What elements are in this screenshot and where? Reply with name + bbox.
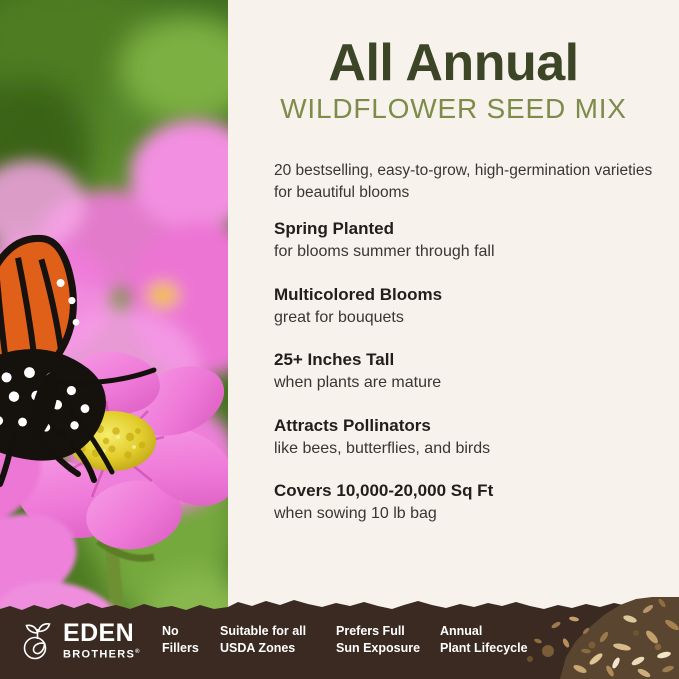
footer-feature-items: No Fillers Suitable for all USDA Zones P… xyxy=(162,623,562,669)
footer-content: EDEN BROTHERS® No Fillers Suitable for a… xyxy=(0,597,679,679)
registered-mark: ® xyxy=(135,649,141,655)
feature-description: like bees, butterflies, and birds xyxy=(274,438,674,459)
footer-bar: EDEN BROTHERS® No Fillers Suitable for a… xyxy=(0,597,679,679)
sprout-seed-icon xyxy=(20,622,56,660)
product-photo xyxy=(0,0,228,679)
product-tagline: 20 bestselling, easy-to-grow, high-germi… xyxy=(274,160,664,204)
feature-item: Covers 10,000-20,000 Sq Ft when sowing 1… xyxy=(274,480,674,525)
feature-list: Spring Planted for blooms summer through… xyxy=(274,218,674,525)
headline-block: All Annual WILDFLOWER SEED MIX xyxy=(228,36,679,125)
page-title: All Annual xyxy=(228,36,679,90)
brand-subname: BROTHERS® xyxy=(63,649,141,661)
feature-title: Covers 10,000-20,000 Sq Ft xyxy=(274,480,674,502)
footer-item-sun-exposure: Prefers Full Sun Exposure xyxy=(336,623,420,658)
brand-wordmark: EDEN BROTHERS® xyxy=(63,621,141,661)
brand-logo[interactable]: EDEN BROTHERS® xyxy=(20,621,141,661)
feature-item: Attracts Pollinators like bees, butterfl… xyxy=(274,415,674,460)
feature-item: Multicolored Blooms great for bouquets xyxy=(274,284,674,329)
footer-item-plant-lifecycle: Annual Plant Lifecycle xyxy=(440,623,528,658)
feature-title: 25+ Inches Tall xyxy=(274,349,674,371)
brand-name: EDEN xyxy=(63,621,141,646)
content-panel: All Annual WILDFLOWER SEED MIX 20 bestse… xyxy=(228,0,679,679)
feature-description: great for bouquets xyxy=(274,307,674,328)
footer-item-usda-zones: Suitable for all USDA Zones xyxy=(220,623,306,658)
feature-item: 25+ Inches Tall when plants are mature xyxy=(274,349,674,394)
product-marketing-card: All Annual WILDFLOWER SEED MIX 20 bestse… xyxy=(0,0,679,679)
feature-title: Multicolored Blooms xyxy=(274,284,674,306)
footer-item-no-fillers: No Fillers xyxy=(162,623,199,658)
feature-item: Spring Planted for blooms summer through… xyxy=(274,218,674,263)
feature-title: Attracts Pollinators xyxy=(274,415,674,437)
product-subtitle: WILDFLOWER SEED MIX xyxy=(228,94,679,125)
feature-title: Spring Planted xyxy=(274,218,674,240)
butterfly-flower-photo-illustration xyxy=(0,0,228,679)
feature-description: when sowing 10 lb bag xyxy=(274,503,674,524)
feature-description: for blooms summer through fall xyxy=(274,241,674,262)
feature-description: when plants are mature xyxy=(274,372,674,393)
